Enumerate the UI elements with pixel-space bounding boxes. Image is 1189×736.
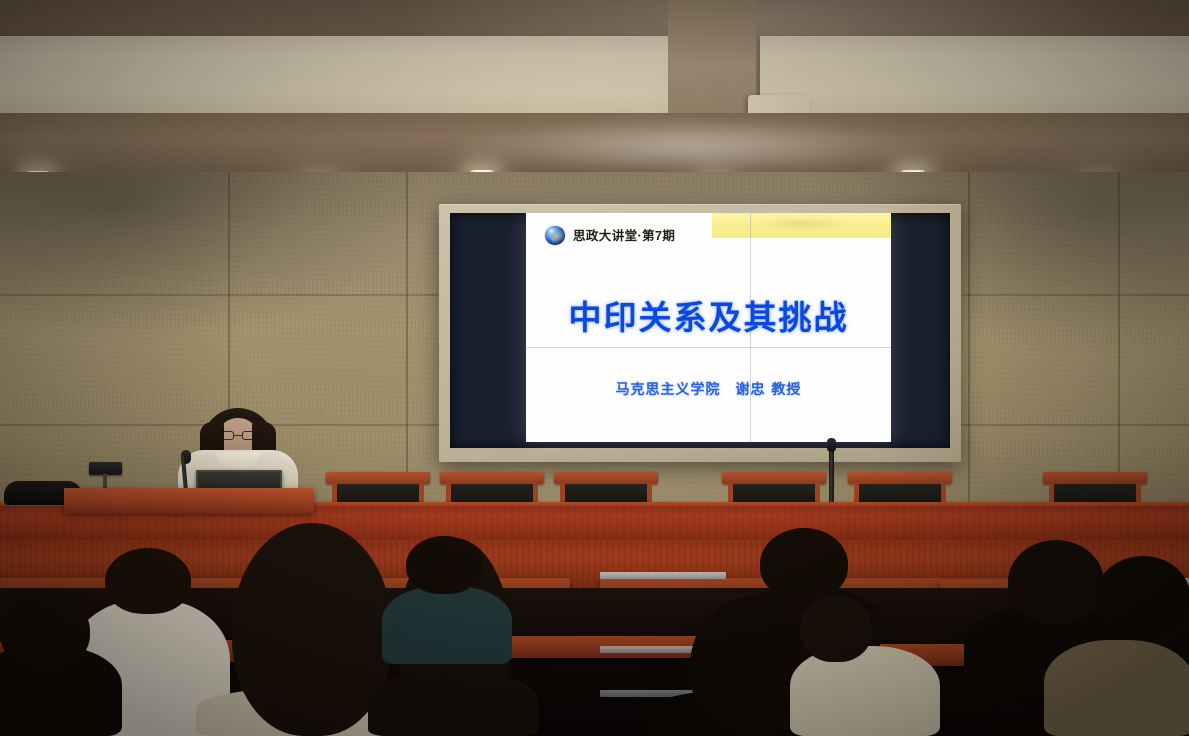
wall-seam	[406, 172, 408, 514]
chair-back	[722, 472, 826, 484]
globe-icon	[545, 226, 565, 245]
audience-head	[406, 536, 482, 594]
audience-head	[1008, 540, 1104, 624]
audience-head	[760, 528, 848, 600]
projection-screen-surface: 思政大讲堂·第7期 中印关系及其挑战 马克思主义学院 谢忠 教授	[450, 213, 950, 448]
microphone-stand-right	[829, 448, 834, 506]
presentation-slide: 思政大讲堂·第7期 中印关系及其挑战 马克思主义学院 谢忠 教授	[526, 213, 891, 442]
ceiling-soffit-right	[760, 36, 1189, 114]
projection-screen-frame: 思政大讲堂·第7期 中印关系及其挑战 马克思主义学院 谢忠 教授	[439, 204, 961, 462]
audience-head	[1096, 556, 1189, 636]
ceiling-soffit-gap	[668, 0, 756, 120]
wall-seam	[968, 172, 970, 514]
slide-title: 中印关系及其挑战	[526, 291, 891, 339]
chair-back	[1043, 472, 1147, 484]
audience-torso	[790, 646, 940, 736]
audience-torso	[1044, 640, 1189, 736]
slide-header-text: 思政大讲堂·第7期	[573, 225, 675, 244]
chair-back	[440, 472, 544, 484]
chair-back	[326, 472, 430, 484]
screen-seam-horizontal	[526, 347, 891, 348]
lecture-hall-photo: 思政大讲堂·第7期 中印关系及其挑战 马克思主义学院 谢忠 教授	[0, 0, 1189, 736]
audience-head	[800, 596, 872, 662]
slide-subtitle: 马克思主义学院 谢忠 教授	[526, 379, 891, 399]
wall-seam	[1118, 172, 1120, 514]
chair-back	[848, 472, 952, 484]
podium-desk	[64, 488, 314, 514]
audience-head	[105, 548, 191, 614]
slide-header: 思政大讲堂·第7期	[526, 223, 891, 249]
desk-highlight	[600, 572, 726, 579]
audience-head	[0, 592, 90, 670]
chair-back	[554, 472, 658, 484]
audience-torso	[382, 586, 512, 664]
ceiling-soffit-left	[0, 36, 676, 114]
